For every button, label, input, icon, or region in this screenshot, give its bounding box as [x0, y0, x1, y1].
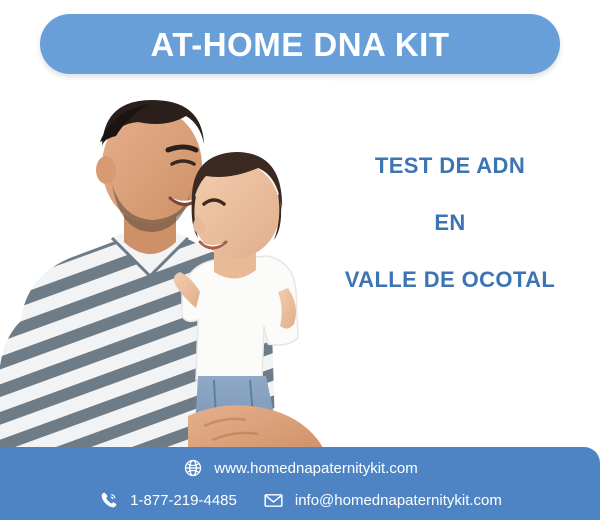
envelope-icon	[263, 489, 285, 511]
poster-canvas: AT-HOME DNA KIT	[0, 0, 600, 520]
headline-line-1: TEST DE ADN	[310, 155, 590, 177]
contact-phone[interactable]: 1-877-219-4485	[98, 489, 237, 511]
footer-contact-bar: www.homednapaternitykit.com 1-877-219-44…	[0, 447, 600, 520]
family-photo	[0, 80, 330, 460]
headline-line-2: EN	[310, 212, 590, 234]
header-banner: AT-HOME DNA KIT	[40, 14, 560, 74]
headline-block: TEST DE ADN EN VALLE DE OCOTAL	[310, 155, 590, 291]
globe-icon	[182, 457, 204, 479]
contact-email[interactable]: info@homednapaternitykit.com	[263, 489, 502, 511]
phone-text: 1-877-219-4485	[130, 493, 237, 508]
contact-website[interactable]: www.homednapaternitykit.com	[182, 457, 417, 479]
footer-row-website: www.homednapaternitykit.com	[0, 457, 600, 479]
banner-title: AT-HOME DNA KIT	[151, 28, 450, 61]
phone-icon	[98, 489, 120, 511]
headline-line-3: VALLE DE OCOTAL	[310, 269, 590, 291]
family-photo-illustration	[0, 80, 330, 460]
footer-row-phone-email: 1-877-219-4485 info@homednapaternitykit.…	[0, 489, 600, 511]
email-text: info@homednapaternitykit.com	[295, 493, 502, 508]
website-text: www.homednapaternitykit.com	[214, 461, 417, 476]
